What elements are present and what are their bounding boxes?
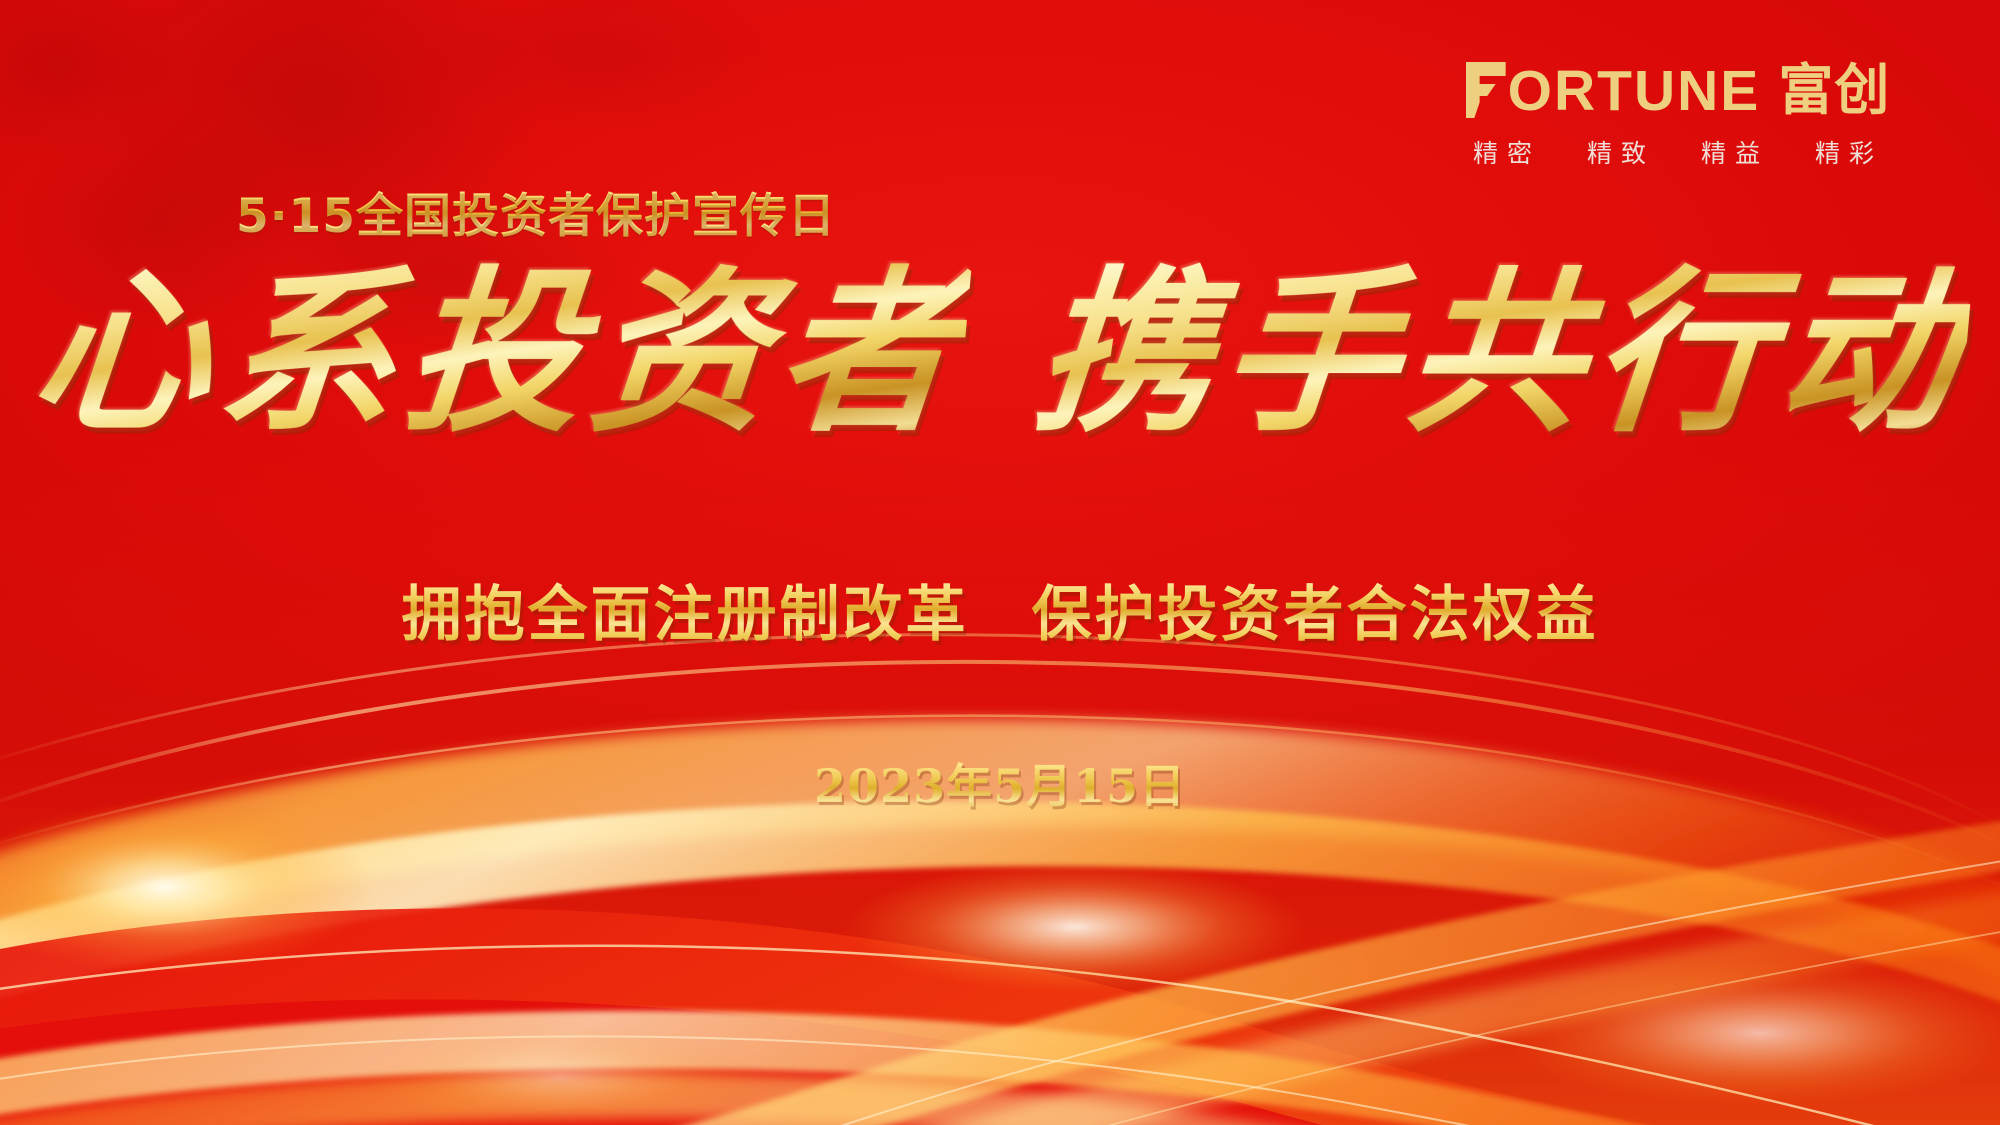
logo-f-glyph-icon [1466, 62, 1506, 118]
event-date-text: 2023年5月15日 [814, 750, 1186, 816]
subtitle-phrase-1: 拥抱全面注册制改革 [402, 566, 969, 653]
logo-tagline-word-4: 精彩 [1815, 134, 1883, 170]
logo-wordmark-row: ORTUNE 富创 [1398, 56, 1958, 118]
logo-tagline-word-2: 精致 [1587, 134, 1655, 170]
main-headline: 心系投资者 携手共行动 [0, 258, 2000, 448]
subtitle-phrase-2: 保护投资者合法权益 [1031, 566, 1598, 653]
poster-canvas: ORTUNE 富创 精密 精致 精益 精彩 5·15全国投资者保护宣传日 心系投… [0, 0, 2000, 1125]
logo-fortune-text: ORTUNE [1508, 64, 1761, 118]
event-eyebrow-label: 5·15全国投资者保护宣传日 [236, 177, 836, 246]
logo-f-midbar [1466, 84, 1496, 96]
logo-fortune-wordmark: ORTUNE [1466, 62, 1761, 118]
logo-tagline-word-1: 精密 [1473, 134, 1541, 170]
company-logo: ORTUNE 富创 精密 精致 精益 精彩 [1398, 56, 1958, 170]
headline-phrase-1: 心系投资者 [25, 258, 972, 448]
subtitle-line: 拥抱全面注册制改革 保护投资者合法权益 [0, 566, 2000, 653]
logo-tagline: 精密 精致 精益 精彩 [1398, 134, 1958, 170]
event-date: 2023年5月15日 [0, 750, 2000, 816]
logo-tagline-word-3: 精益 [1701, 134, 1769, 170]
logo-chinese-name: 富创 [1778, 63, 1890, 118]
headline-phrase-2: 携手共行动 [1028, 258, 1975, 448]
